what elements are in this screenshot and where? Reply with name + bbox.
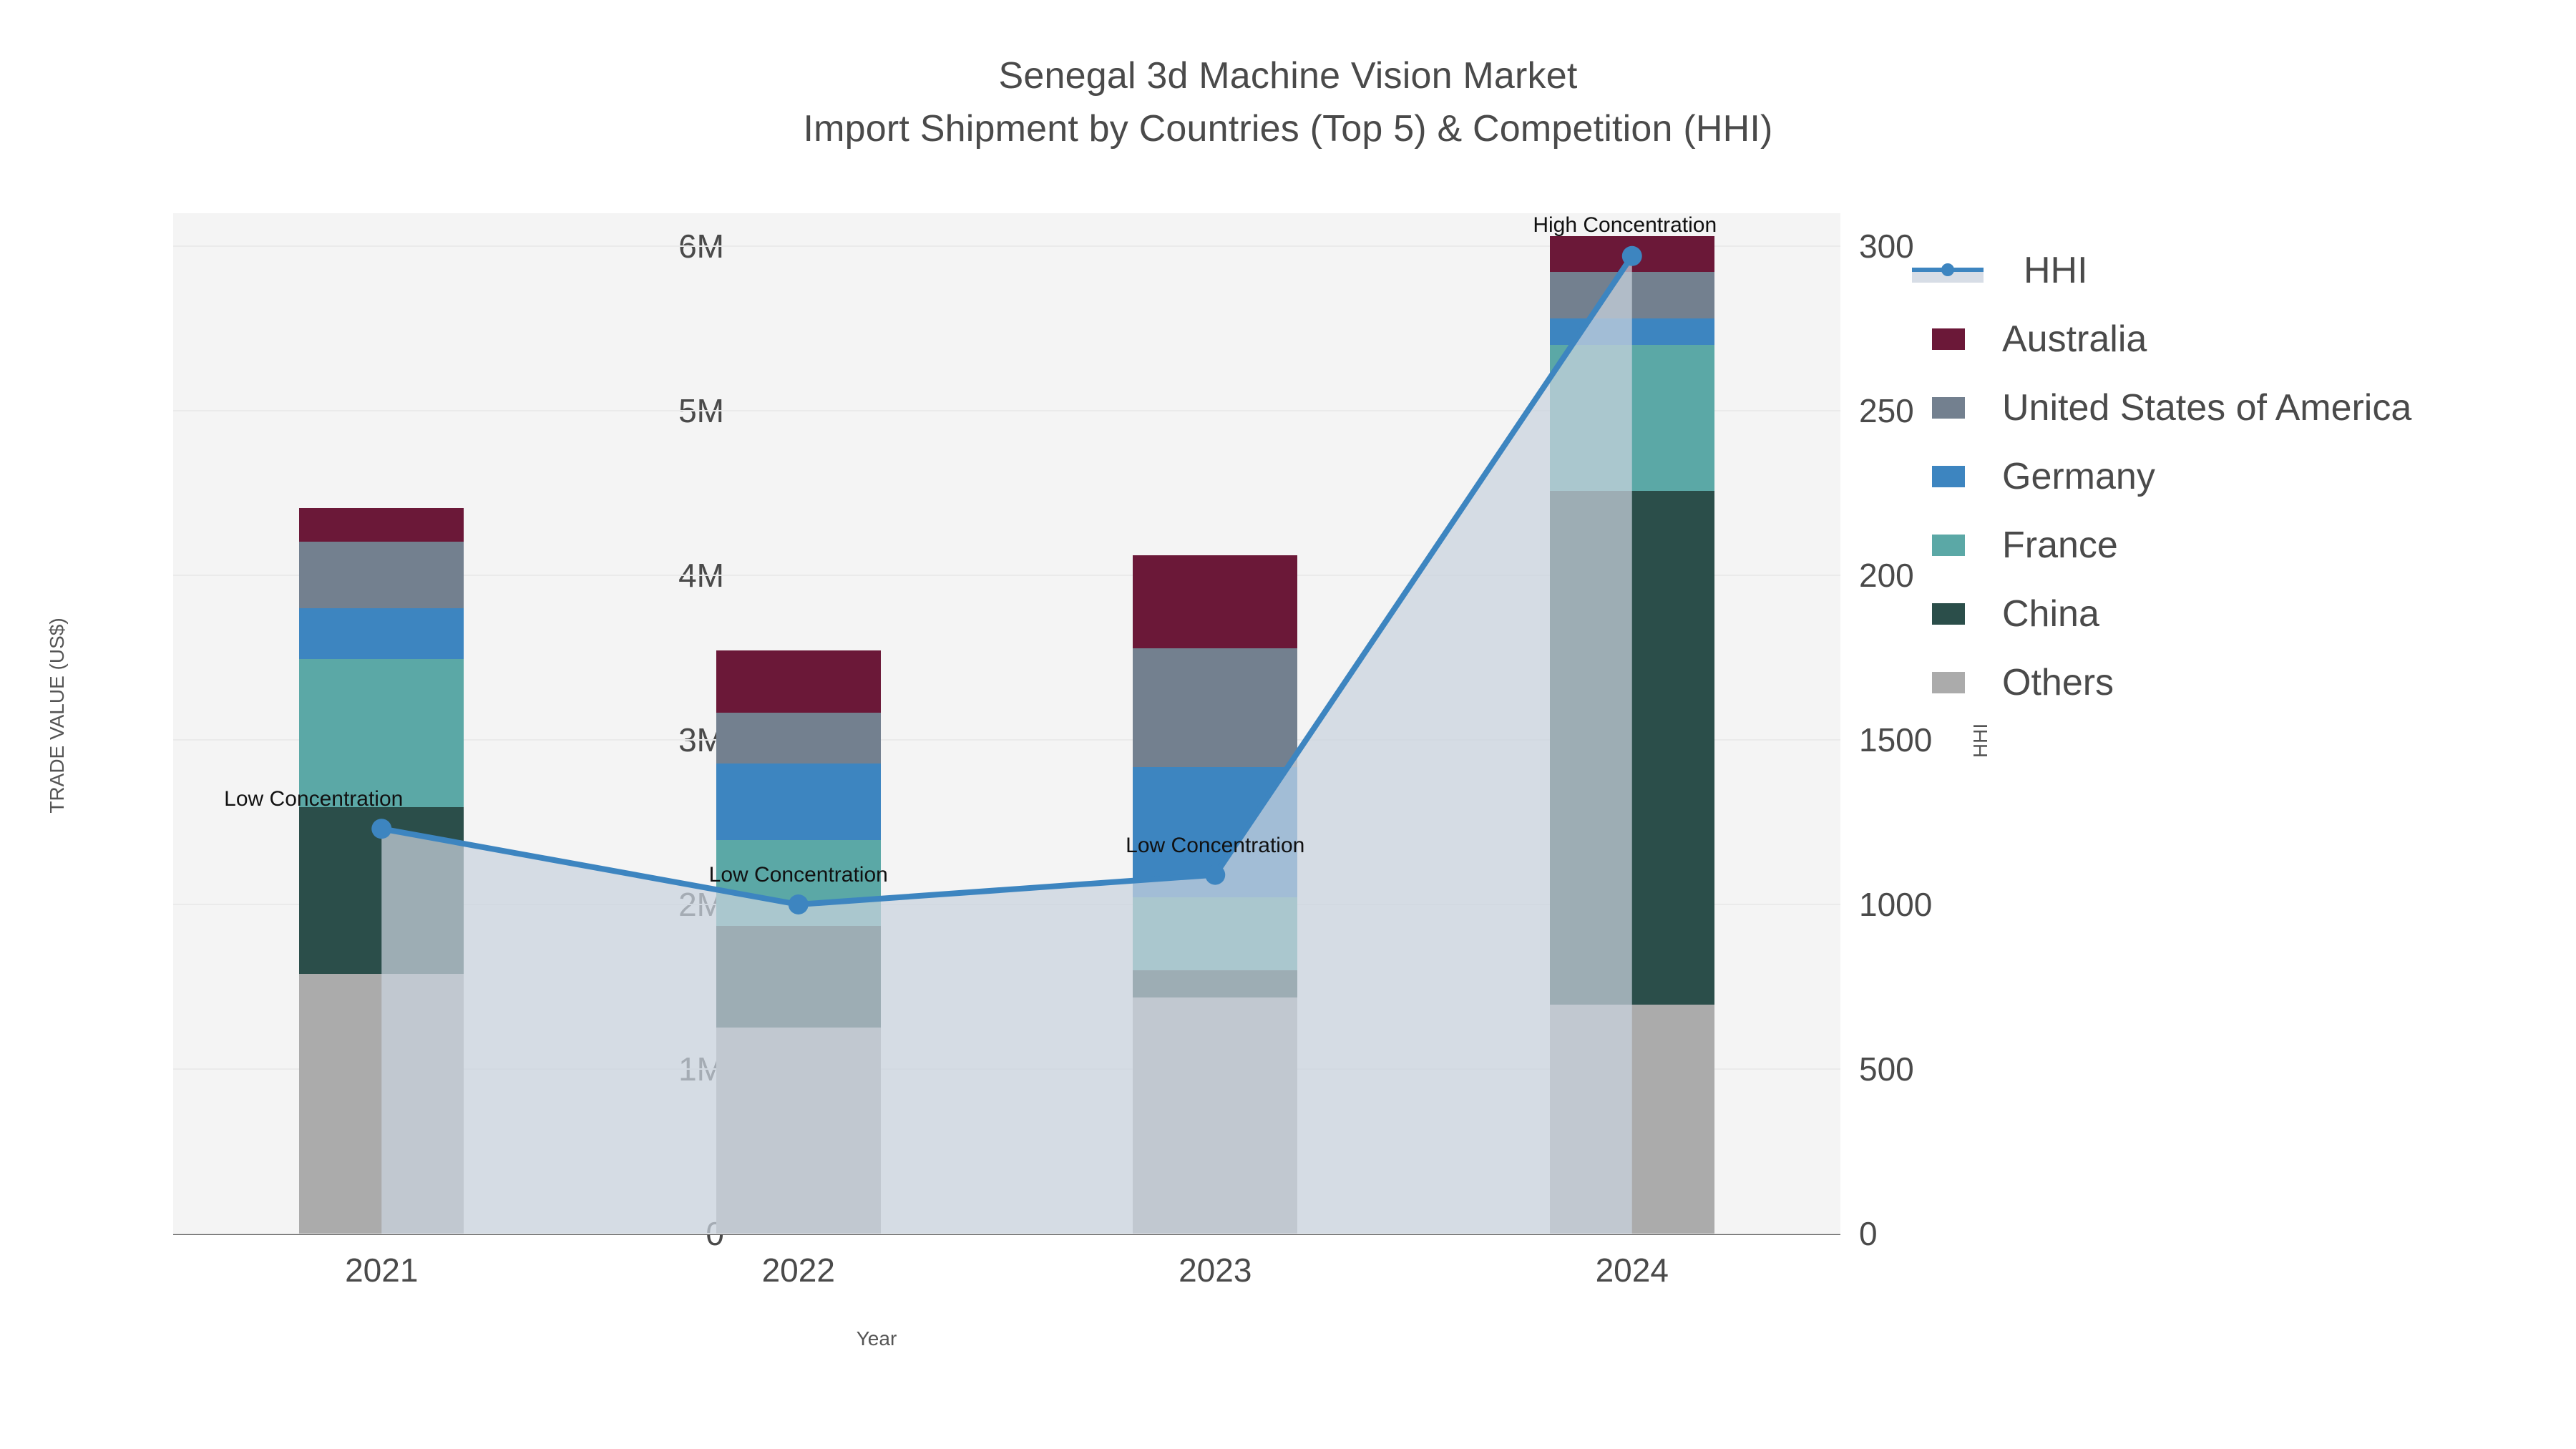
bar-segment[interactable] [299,608,464,659]
concentration-annotation: High Concentration [1533,213,1717,238]
concentration-annotation: Low Concentration [1126,834,1304,858]
bar-stack[interactable] [1133,555,1297,1234]
y2-axis-tick-label: 250 [1859,391,1914,430]
y2-axis-tick-label: 500 [1859,1050,1914,1088]
y2-axis-tick-label: 200 [1859,556,1914,595]
y2-axis-tick-label: 1500 [1859,721,1932,759]
bar-segment[interactable] [1550,491,1714,1005]
y2-axis-tick-label: 1000 [1859,885,1932,924]
y2-axis-tick-label: 0 [1859,1214,1878,1253]
bar-segment[interactable] [1550,1005,1714,1234]
chart-title-line-1: Senegal 3d Machine Vision Market [0,50,2576,103]
bar-segment[interactable] [299,542,464,608]
legend-item-label: France [2002,524,2118,567]
bar-segment[interactable] [1133,555,1297,648]
bar-segment[interactable] [1550,345,1714,491]
bar-stack[interactable] [1550,236,1714,1234]
bar-segment[interactable] [1550,272,1714,319]
legend-item[interactable]: HHI [1932,236,2411,305]
legend-item[interactable]: Germany [1932,442,2411,511]
china-swatch-icon [1932,603,1965,625]
legend-item[interactable]: France [1932,511,2411,580]
legend-item-label: Germany [2002,455,2155,498]
concentration-annotation: Low Concentration [224,787,403,811]
legend-item-label: United States of America [2002,386,2411,429]
france-swatch-icon [1932,535,1965,556]
bar-segment[interactable] [1133,648,1297,767]
bar-segment[interactable] [1133,767,1297,897]
x-axis-tick-label: 2021 [345,1251,418,1289]
bar-stack[interactable] [299,508,464,1234]
bar-segment[interactable] [1550,236,1714,271]
legend-item[interactable]: Australia [1932,305,2411,374]
legend-item[interactable]: China [1932,580,2411,648]
legend-item-label: Australia [2002,318,2147,361]
bar-stack[interactable] [716,650,881,1234]
y-axis-title: TRADE VALUE (US$) [46,618,69,813]
legend-item[interactable]: Others [1932,648,2411,717]
chart-title: Senegal 3d Machine Vision Market Import … [0,50,2576,156]
bar-segment[interactable] [299,659,464,807]
bar-segment[interactable] [1133,970,1297,997]
bar-segment[interactable] [299,974,464,1234]
chart-title-line-2: Import Shipment by Countries (Top 5) & C… [0,103,2576,156]
y2-axis-title: HHI [1969,723,1992,758]
hhi-line-icon [1912,260,1984,281]
bar-segment[interactable] [299,807,464,973]
x-axis-tick-label: 2023 [1179,1251,1252,1289]
bar-segment[interactable] [716,763,881,840]
legend-item-label: HHI [2024,249,2088,292]
x-axis-tick-label: 2022 [762,1251,835,1289]
germany-swatch-icon [1932,466,1965,487]
bar-segment[interactable] [1550,318,1714,345]
bar-segment[interactable] [1133,997,1297,1234]
legend-item-label: Others [2002,661,2114,704]
bar-segment[interactable] [716,926,881,1028]
legend-item[interactable]: United States of America [1932,374,2411,442]
x-axis-tick-label: 2024 [1596,1251,1669,1289]
bar-segment[interactable] [716,1028,881,1234]
bar-segment[interactable] [716,713,881,763]
australia-swatch-icon [1932,328,1965,350]
legend: HHIAustraliaUnited States of AmericaGerm… [1932,236,2411,717]
legend-item-label: China [2002,592,2099,635]
y2-axis-tick-label: 300 [1859,227,1914,265]
usa-swatch-icon [1932,397,1965,419]
concentration-annotation: Low Concentration [709,863,888,887]
bar-segment[interactable] [716,650,881,713]
x-axis-title: Year [0,1327,1753,1350]
bar-segment[interactable] [1133,897,1297,970]
bar-segment[interactable] [299,508,464,542]
others-swatch-icon [1932,672,1965,693]
